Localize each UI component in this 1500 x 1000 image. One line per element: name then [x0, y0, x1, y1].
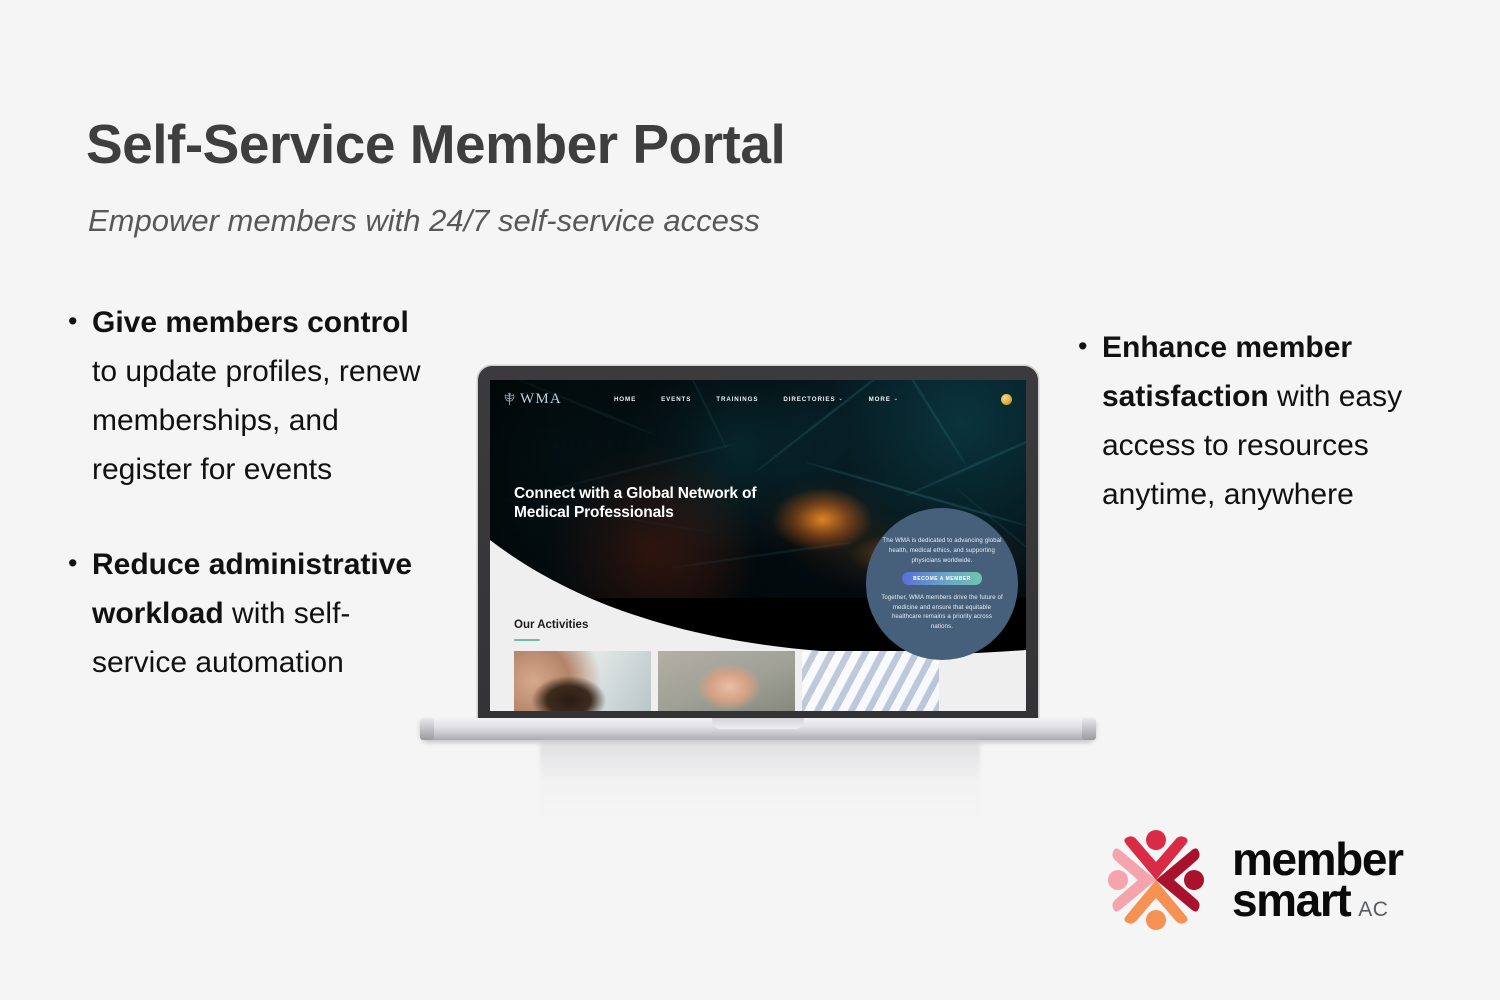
bullet-strong: Give members control: [92, 306, 409, 339]
bullet-text: Reduce administrative workload with self…: [92, 540, 434, 687]
globe-icon[interactable]: [1001, 394, 1012, 405]
nav-item-more[interactable]: MORE⌄: [869, 396, 899, 403]
membersmart-wordmark: member smart AC: [1232, 839, 1403, 922]
wma-logo-text: WMA: [520, 391, 562, 408]
page-title: Self-Service Member Portal: [86, 112, 785, 176]
nav-label: EVENTS: [661, 396, 691, 403]
activities-thumbnail-row: [514, 651, 939, 711]
activity-photo-1[interactable]: [514, 651, 651, 711]
membership-callout-circle: The WMA is dedicated to advancing global…: [866, 508, 1018, 660]
hero-headline: Connect with a Global Network of Medical…: [514, 484, 774, 522]
membersmart-logo: member smart AC: [1100, 826, 1403, 934]
brand-word-bottom: smart: [1232, 880, 1350, 921]
callout-paragraph-1: The WMA is dedicated to advancing global…: [880, 536, 1004, 565]
list-item: • Enhance member satisfaction with easy …: [1072, 323, 1432, 519]
nav-item-directories[interactable]: DIRECTORIES⌄: [783, 396, 843, 403]
bullet-marker: •: [62, 540, 92, 587]
brand-line-bottom: smart AC: [1232, 880, 1403, 921]
site-nav-links: HOME EVENTS TRAININGS DIRECTORIES⌄ MORE⌄: [614, 396, 899, 403]
list-item: • Reduce administrative workload with se…: [62, 540, 434, 687]
activities-heading: Our Activities: [514, 619, 588, 631]
site-navbar: WMA HOME EVENTS TRAININGS DIRECTORIES⌄ M…: [490, 380, 1026, 418]
laptop-base: [420, 718, 1096, 740]
bullet-text: Enhance member satisfaction with easy ac…: [1102, 323, 1432, 519]
laptop-notch: [712, 718, 804, 729]
wma-logo[interactable]: WMA: [502, 391, 562, 408]
laptop-edge-left: [420, 718, 434, 740]
nav-label: MORE: [869, 396, 891, 403]
become-a-member-button[interactable]: BECOME A MEMBER: [902, 572, 982, 585]
chevron-down-icon: ⌄: [894, 396, 899, 402]
bullet-marker: •: [62, 298, 92, 345]
bullet-list-right: • Enhance member satisfaction with easy …: [1072, 323, 1432, 565]
website-preview: WMA HOME EVENTS TRAININGS DIRECTORIES⌄ M…: [490, 380, 1026, 711]
caduceus-icon: [502, 392, 517, 407]
activity-photo-3[interactable]: [802, 651, 939, 711]
membersmart-mark-icon: [1100, 826, 1212, 934]
nav-label: TRAININGS: [716, 396, 758, 403]
nav-item-trainings[interactable]: TRAININGS: [716, 396, 758, 403]
laptop-reflection: [540, 740, 980, 818]
list-item: • Give members control to update profile…: [62, 298, 434, 494]
nav-label: DIRECTORIES: [783, 396, 835, 403]
bullet-text: Give members control to update profiles,…: [92, 298, 434, 494]
activity-photo-2[interactable]: [658, 651, 795, 711]
bullet-rest: to update profiles, renew memberships, a…: [92, 355, 421, 486]
activities-accent-rule: [514, 639, 540, 641]
bullet-marker: •: [1072, 323, 1102, 370]
laptop-screen: WMA HOME EVENTS TRAININGS DIRECTORIES⌄ M…: [490, 380, 1026, 711]
bullet-list-left: • Give members control to update profile…: [62, 298, 434, 733]
page-subtitle: Empower members with 24/7 self-service a…: [88, 203, 760, 239]
laptop-lid: WMA HOME EVENTS TRAININGS DIRECTORIES⌄ M…: [478, 366, 1038, 721]
laptop-mockup: WMA HOME EVENTS TRAININGS DIRECTORIES⌄ M…: [420, 366, 1096, 786]
slide-canvas: Self-Service Member Portal Empower membe…: [0, 0, 1500, 1000]
chevron-down-icon: ⌄: [838, 396, 843, 402]
brand-suffix: AC: [1358, 901, 1388, 920]
nav-item-home[interactable]: HOME: [614, 396, 636, 403]
laptop-edge-right: [1082, 718, 1096, 740]
nav-label: HOME: [614, 396, 636, 403]
callout-paragraph-2: Together, WMA members drive the future o…: [880, 593, 1004, 631]
nav-item-events[interactable]: EVENTS: [661, 396, 691, 403]
